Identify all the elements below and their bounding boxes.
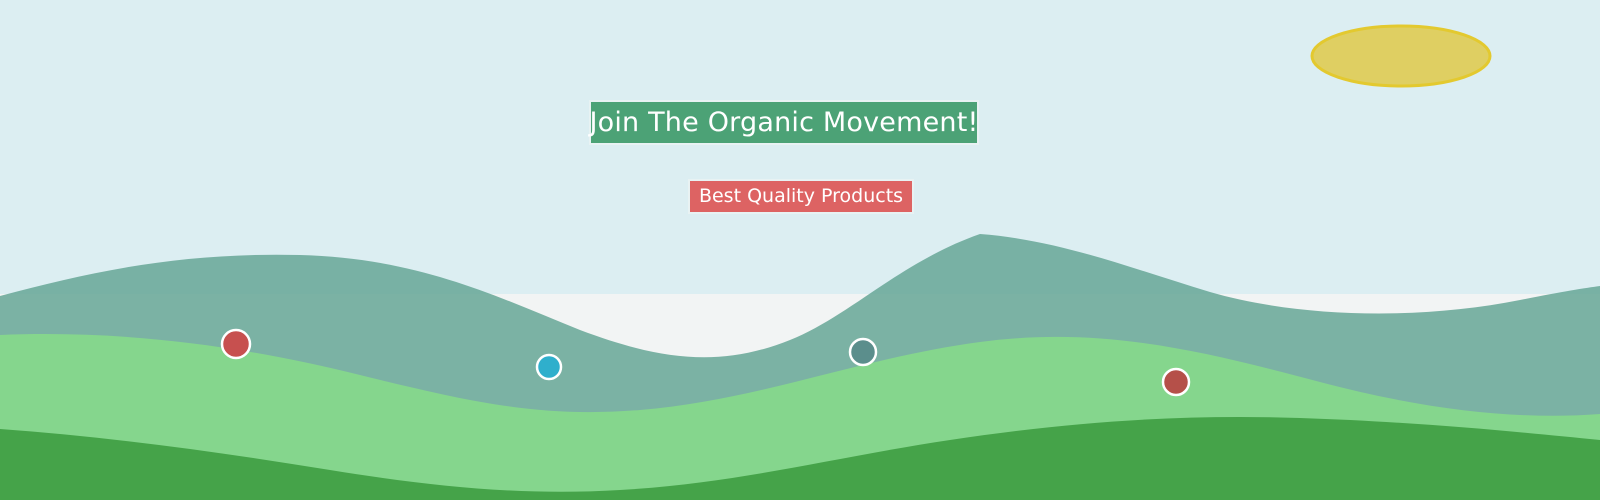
marker-cyan[interactable]: [537, 355, 561, 379]
hero-banner: Join The Organic Movement! Best Quality …: [0, 0, 1600, 500]
subheadline-banner[interactable]: Best Quality Products: [688, 179, 914, 214]
marker-red-left[interactable]: [222, 330, 250, 358]
subheadline-text: Best Quality Products: [699, 187, 903, 206]
sun-icon: [1312, 26, 1490, 86]
marker-red-right[interactable]: [1163, 369, 1189, 395]
headline-banner[interactable]: Join The Organic Movement!: [589, 100, 979, 145]
marker-slate-teal[interactable]: [850, 339, 876, 365]
headline-text: Join The Organic Movement!: [589, 109, 978, 136]
landscape-illustration: [0, 0, 1600, 500]
